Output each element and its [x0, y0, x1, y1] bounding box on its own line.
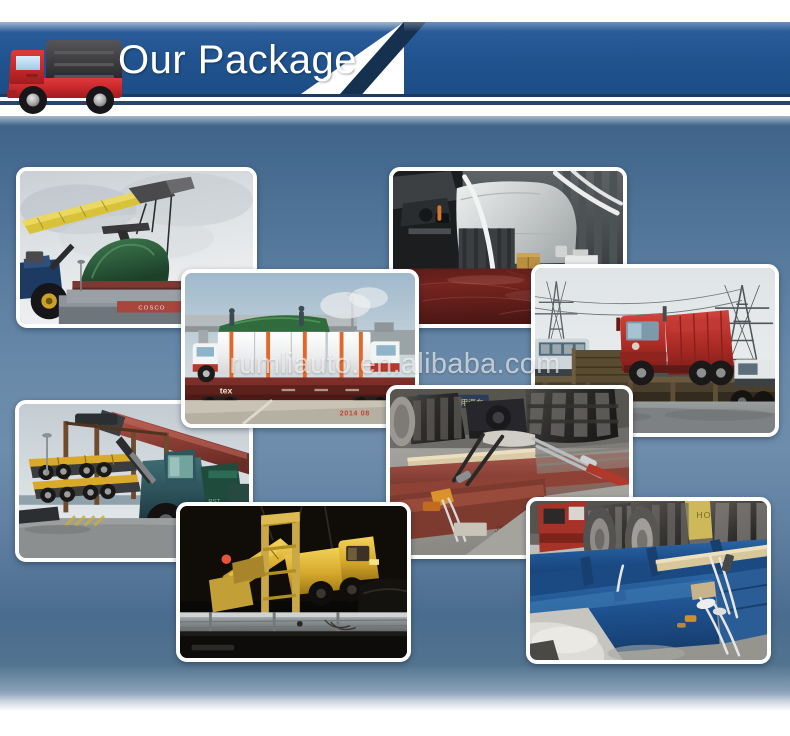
- svg-text:tex: tex: [220, 386, 233, 396]
- svg-text:2014 08: 2014 08: [340, 410, 370, 418]
- svg-text:COSCO: COSCO: [138, 306, 165, 312]
- gallery-photo-wheel-lashing-blue-trailer[interactable]: HOWO: [526, 497, 771, 664]
- header-banner-right-gloss: [404, 22, 790, 31]
- photo-8-image: HOWO: [530, 501, 767, 660]
- header-banner-right: [404, 22, 790, 94]
- background-bottom-fade: [0, 690, 790, 736]
- photo-7-image: [180, 506, 407, 658]
- page-header: Our Package: [0, 0, 790, 116]
- delivery-truck-icon: [4, 32, 130, 118]
- header-banner-left-gloss: [0, 22, 404, 32]
- gallery-photo-night-crane-truck-ship-loading[interactable]: [176, 502, 411, 662]
- page-title: Our Package: [118, 32, 357, 88]
- package-showcase-page: Our Package: [0, 0, 790, 736]
- photo-3-image: tex: [185, 273, 415, 424]
- gallery-photo-white-box-trucks-on-railcar[interactable]: tex: [181, 269, 419, 428]
